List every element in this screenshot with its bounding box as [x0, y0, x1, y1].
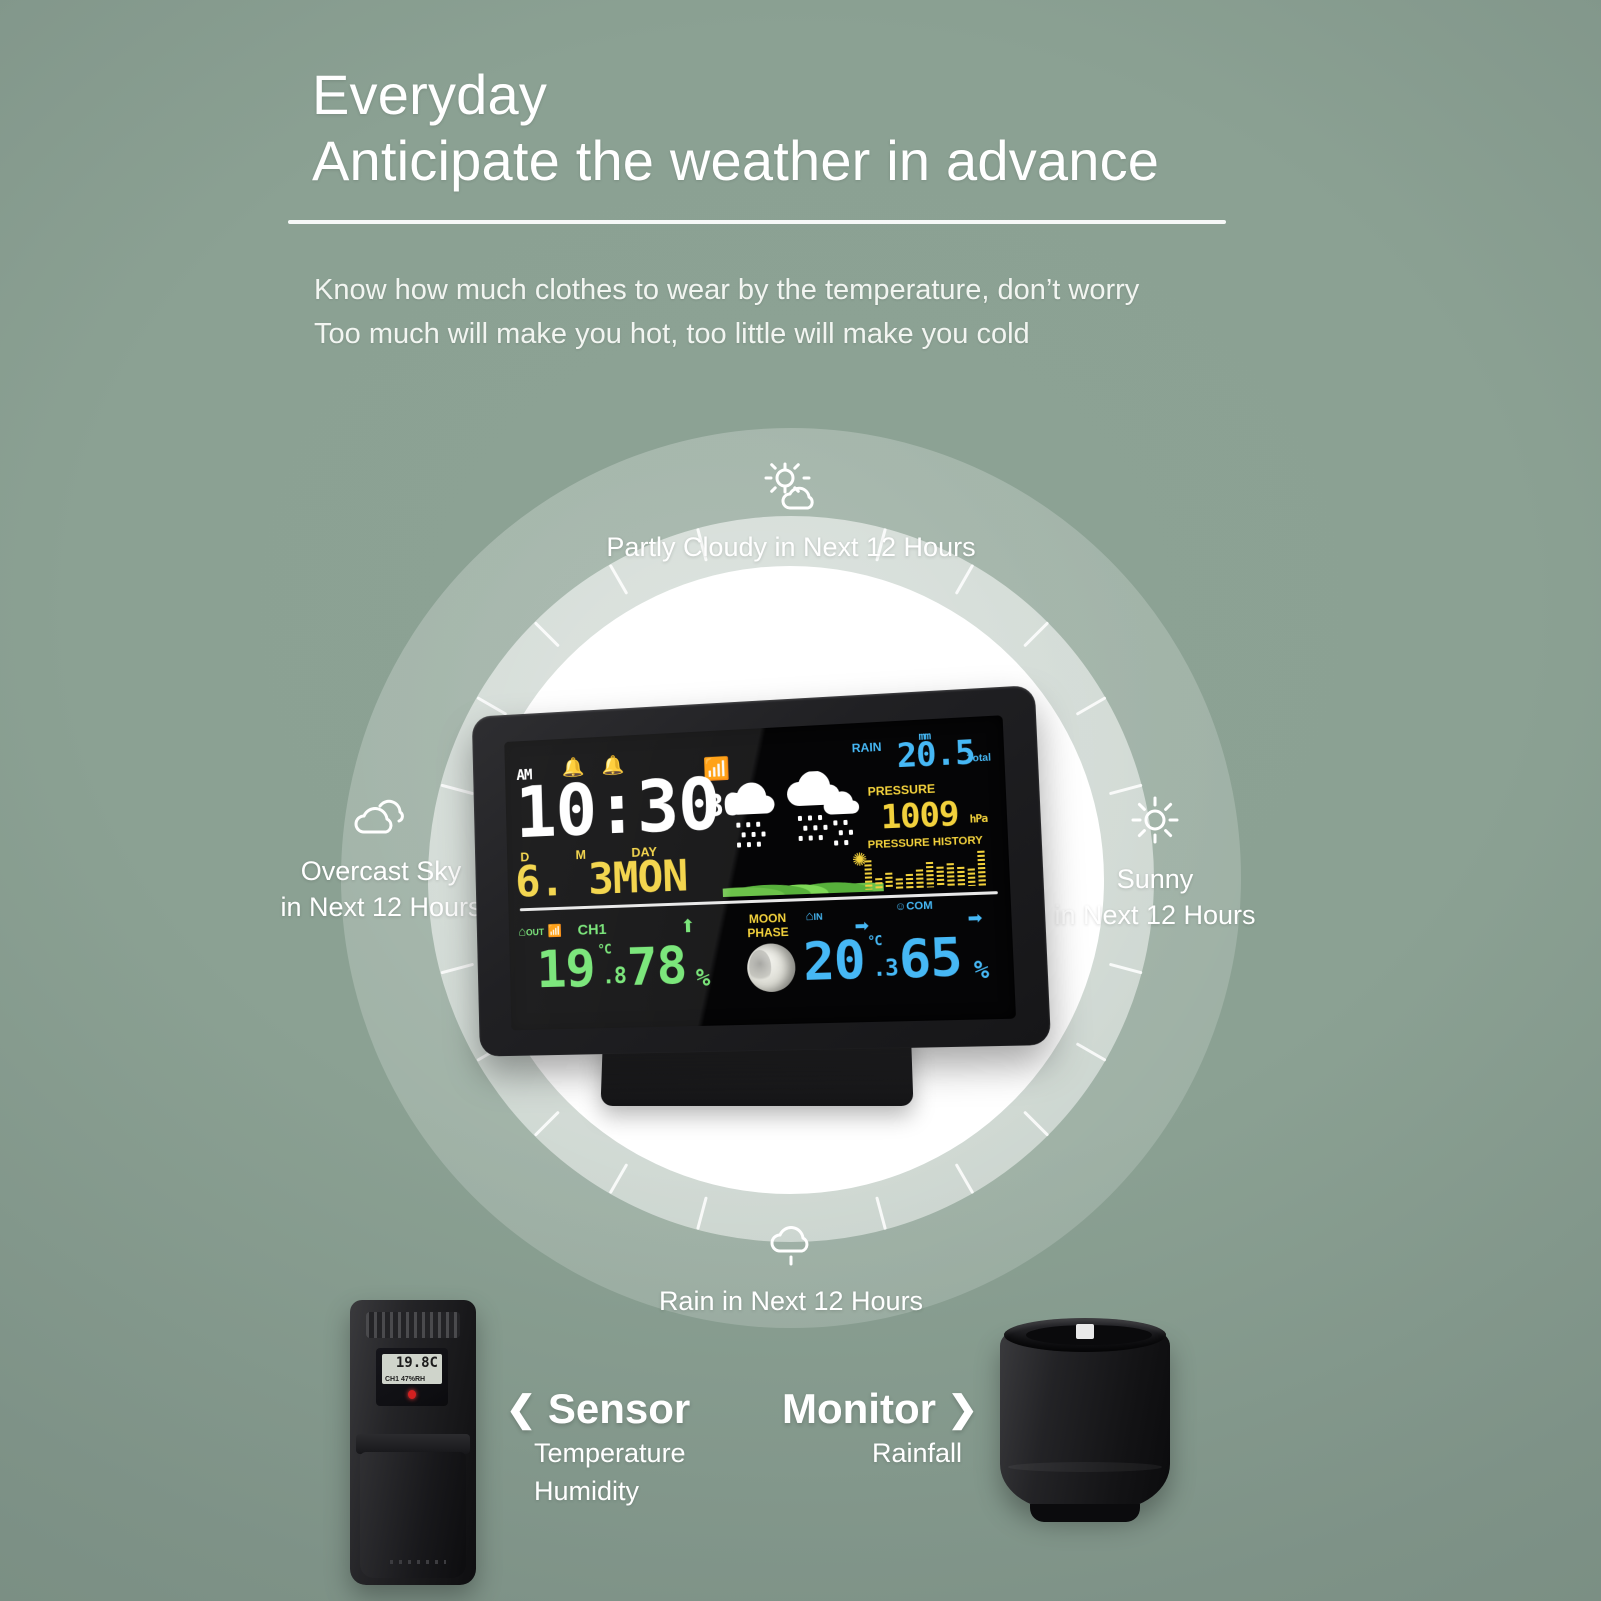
monitor-feature-1: Rainfall — [782, 1434, 962, 1472]
gauge-band — [1008, 1462, 1162, 1472]
sensor-lcd-temp: 19.8C — [396, 1355, 438, 1371]
indoor-home-icon: ⌂IN — [805, 908, 823, 924]
indoor-in-label: IN — [813, 912, 822, 922]
page-title: Everyday Anticipate the weather in advan… — [312, 62, 1312, 194]
clock-time: 10:30 — [515, 768, 721, 848]
forecast-left-label-1: Overcast Sky — [301, 856, 462, 886]
sensor-lcd-sub: CH1 47%RH — [385, 1376, 425, 1383]
pressure-history-bar — [916, 869, 924, 888]
gauge-tab — [1076, 1324, 1094, 1339]
com-label: COM — [906, 900, 933, 913]
moon-label-1: MOON — [749, 911, 787, 926]
forecast-right-label-1: Sunny — [1117, 864, 1194, 894]
outdoor-temp-unit: °C — [597, 943, 611, 958]
pressure-history-chart — [864, 850, 1002, 890]
moon-label-2: PHASE — [747, 925, 789, 940]
outdoor-home-icon: ⌂OUT 📶 — [518, 923, 562, 939]
monitor-caption: Monitor ❯ Rainfall — [782, 1384, 962, 1472]
indoor-temp-unit: °C — [867, 934, 882, 950]
sensor-lower-body — [360, 1452, 466, 1578]
date-value: 6. 3MON — [515, 855, 688, 905]
weather-forecast-icons — [719, 769, 872, 866]
sensor-title: Sensor — [548, 1385, 690, 1432]
rain-value: 20.5 — [896, 735, 975, 772]
pressure-history-label: PRESSURE HISTORY — [867, 834, 983, 851]
pressure-value: 1009 — [880, 797, 959, 834]
gauge-body — [1000, 1332, 1170, 1510]
forecast-bottom-label: Rain in Next 12 Hours — [659, 1286, 923, 1316]
promo-page: Everyday Anticipate the weather in advan… — [0, 0, 1601, 1601]
pressure-history-bar — [947, 863, 955, 887]
subtitle-line-2: Too much will make you hot, too little w… — [314, 312, 1314, 356]
sensor-lip — [356, 1434, 470, 1454]
pressure-history-bar — [926, 862, 934, 888]
monitor-title: Monitor — [782, 1385, 936, 1432]
indoor-temp-decimal: .3 — [872, 958, 898, 981]
sensor-dots — [390, 1560, 446, 1564]
pressure-history-bar — [936, 867, 944, 888]
lcd-lower-section: ⌂OUT 📶 CH1 ⬆ 19 °C .8 78 % MOON PHASE — [509, 899, 1016, 1030]
rain-label: RAIN — [851, 740, 881, 756]
device-bezel: AM 🔔🔔 📶 10:30 36 D M DAY 6. 3MON — [472, 685, 1051, 1057]
forecast-right: Sunny in Next 12 Hours — [1020, 794, 1290, 933]
pressure-history-bar — [968, 868, 976, 886]
indoor-temperature: 20 — [802, 935, 865, 990]
outdoor-out-label: OUT — [526, 927, 544, 937]
forecast-bottom: Rain in Next 12 Hours — [591, 1218, 991, 1319]
comfort-indicator: ☺COM — [894, 900, 932, 914]
partly-cloudy-icon — [591, 462, 991, 519]
forecast-right-label-2: in Next 12 Hours — [1020, 897, 1290, 933]
sensor-screen: 19.8C CH1 47%RH — [376, 1348, 448, 1406]
pressure-history-bar — [977, 851, 986, 886]
title-line-2: Anticipate the weather in advance — [312, 128, 1312, 194]
sensor-led-icon — [408, 1390, 416, 1399]
rain-gauge-product — [1000, 1318, 1170, 1530]
monitor-caption-title: Monitor ❯ — [782, 1384, 962, 1434]
sensor-feature-1: Temperature — [534, 1434, 690, 1472]
subtitle-line-1: Know how much clothes to wear by the tem… — [314, 268, 1314, 312]
device-lcd-screen: AM 🔔🔔 📶 10:30 36 D M DAY 6. 3MON — [504, 715, 1016, 1030]
outdoor-humidity: 78 — [626, 940, 687, 994]
sensor-caption: ❮ Sensor Temperature Humidity — [506, 1384, 690, 1510]
moon-phase-label: MOON PHASE — [737, 910, 798, 940]
forecast-top: Partly Cloudy in Next 12 Hours — [591, 462, 991, 565]
title-line-1: Everyday — [312, 63, 547, 126]
chevron-left-icon: ❮ — [506, 1388, 536, 1429]
indoor-humidity-unit: % — [973, 955, 988, 984]
sensor-caption-title: ❮ Sensor — [506, 1384, 690, 1434]
sensor-vents — [366, 1312, 460, 1338]
humidity-trend-arrow-icon: ➡ — [967, 908, 983, 929]
rain-icon — [591, 1218, 991, 1273]
rain-total-label: Total — [967, 752, 992, 764]
pressure-history-bar — [864, 860, 872, 890]
outdoor-channel: CH1 — [577, 921, 606, 939]
sensor-feature-2: Humidity — [534, 1472, 690, 1510]
wifi-icon: 📶 — [547, 924, 562, 938]
subtitle-block: Know how much clothes to wear by the tem… — [314, 268, 1314, 356]
header-divider — [288, 220, 1226, 224]
pressure-unit: hPa — [969, 812, 987, 826]
outdoor-sensor-product: 19.8C CH1 47%RH — [350, 1300, 476, 1585]
forecast-top-label: Partly Cloudy in Next 12 Hours — [606, 532, 975, 562]
weather-station-device: AM 🔔🔔 📶 10:30 36 D M DAY 6. 3MON — [466, 700, 1036, 1120]
pressure-history-bar — [896, 878, 904, 888]
outdoor-trend-arrow-icon: ⬆ — [680, 916, 696, 937]
chevron-right-icon: ❯ — [948, 1388, 978, 1429]
moon-phase-icon — [746, 943, 796, 993]
outdoor-temp-decimal: .8 — [602, 966, 626, 988]
sunny-icon — [1020, 794, 1290, 851]
outdoor-humidity-unit: % — [696, 964, 710, 992]
outdoor-temperature: 19 — [536, 943, 596, 996]
lcd-upper-section: AM 🔔🔔 📶 10:30 36 D M DAY 6. 3MON — [504, 715, 1010, 905]
pressure-history-bar — [885, 873, 893, 889]
pressure-history-bar — [957, 867, 965, 887]
sensor-lcd: 19.8C CH1 47%RH — [382, 1354, 442, 1384]
pressure-history-bar — [875, 878, 883, 889]
gauge-feet — [1030, 1504, 1140, 1522]
indoor-humidity: 65 — [898, 931, 963, 986]
pressure-history-bar — [906, 874, 914, 888]
